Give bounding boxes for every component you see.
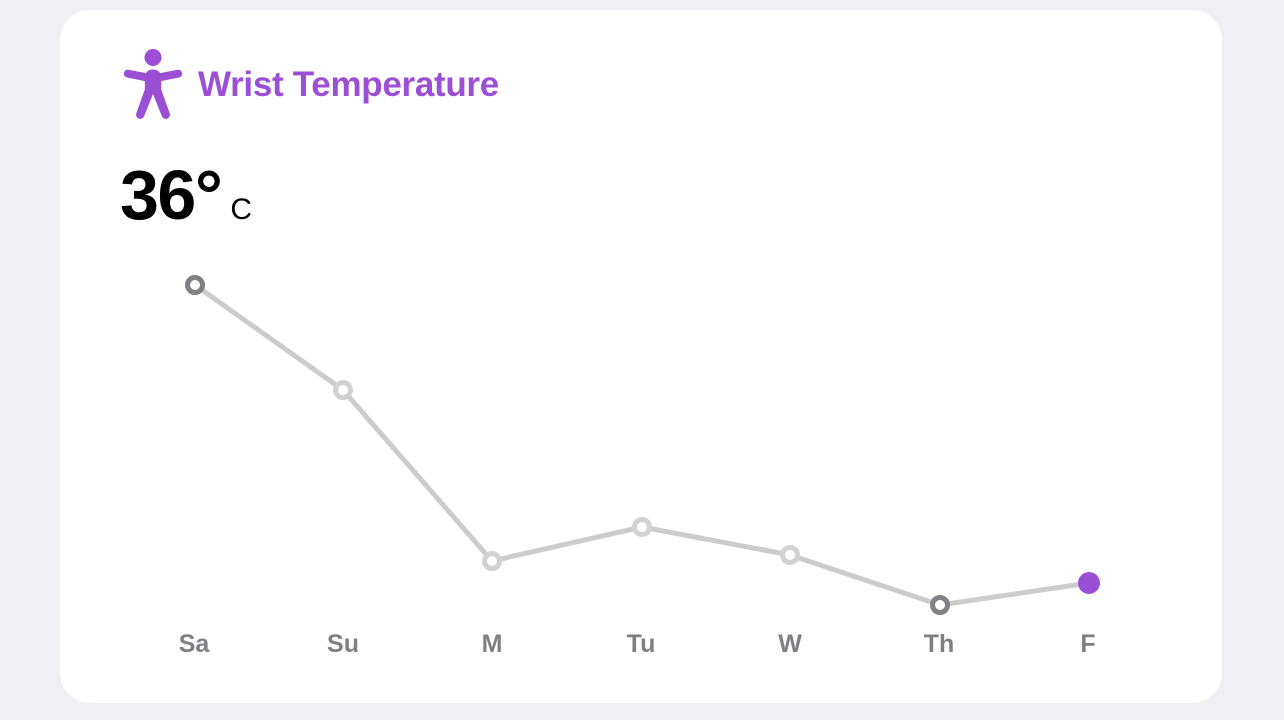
- figure-stand-icon: [122, 48, 184, 120]
- chart-marker-group: [188, 278, 1101, 613]
- chart-point-tu[interactable]: [635, 520, 650, 535]
- chart-point-th[interactable]: [933, 598, 948, 613]
- page-title: Wrist Temperature: [198, 67, 499, 102]
- x-axis-label-su: Su: [327, 632, 359, 657]
- x-axis-labels: SaSuMTuWThF: [60, 632, 1222, 682]
- chart-point-w[interactable]: [783, 548, 798, 563]
- wrist-temperature-card[interactable]: Wrist Temperature 36° C SaSuMTuWThF: [60, 10, 1222, 703]
- x-axis-label-tu: Tu: [627, 632, 656, 657]
- x-axis-label-sa: Sa: [179, 632, 210, 657]
- chart-point-f[interactable]: [1078, 572, 1100, 594]
- current-reading: 36° C: [120, 160, 252, 230]
- x-axis-label-th: Th: [924, 632, 955, 657]
- reading-unit: C: [230, 195, 252, 225]
- chart-line-series: [195, 285, 1089, 605]
- x-axis-label-f: F: [1080, 632, 1095, 657]
- chart-point-sa[interactable]: [188, 278, 203, 293]
- chart-point-su[interactable]: [336, 383, 351, 398]
- chart-point-m[interactable]: [485, 554, 500, 569]
- x-axis-label-w: W: [778, 632, 802, 657]
- reading-value: 36°: [120, 160, 221, 230]
- card-header: Wrist Temperature: [122, 48, 499, 120]
- x-axis-label-m: M: [482, 632, 503, 657]
